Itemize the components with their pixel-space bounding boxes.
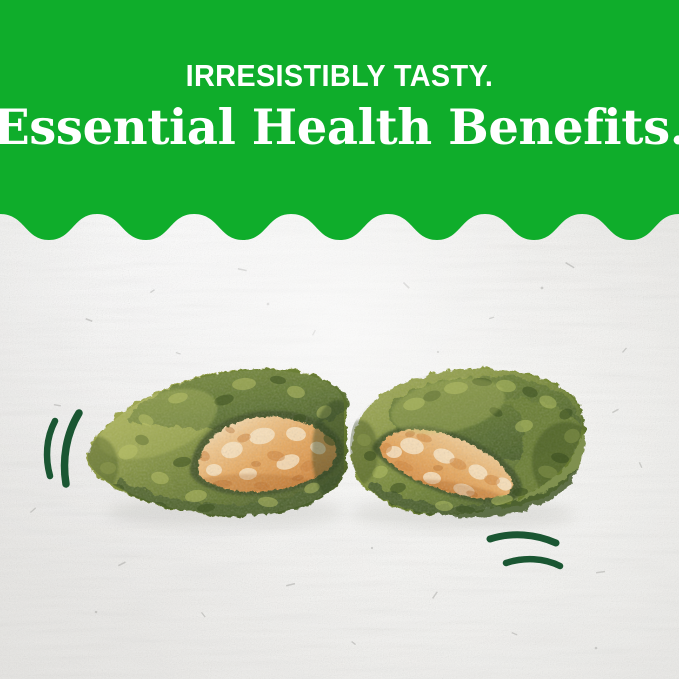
- header-green-band: [0, 0, 679, 250]
- product-banner: IRRESISTIBLY TASTY. Essential Health Ben…: [0, 0, 679, 679]
- header-wave-shape: [0, 0, 679, 240]
